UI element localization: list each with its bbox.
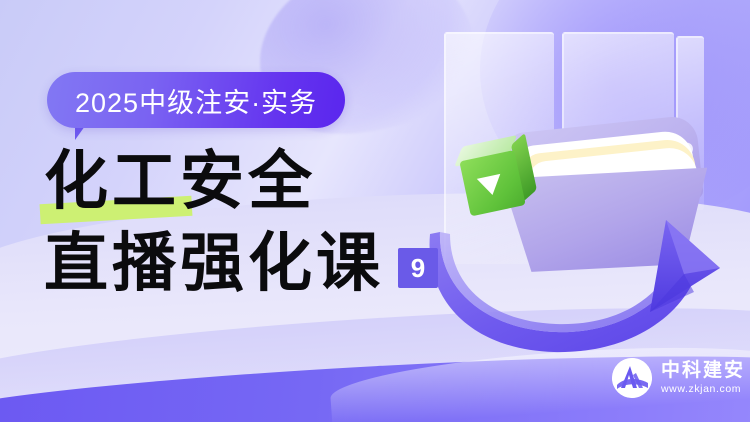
course-promo-banner: 2025中级注安·实务 化工安全 直播强化课 9 中科建安 www.zkjan.… — [0, 0, 750, 422]
course-tag-label: 2025中级注安·实务 — [75, 81, 317, 120]
brand-logo: 中科建安 www.zkjan.com — [612, 358, 745, 398]
tag-pill-tail — [75, 126, 95, 140]
brand-text-block: 中科建安 www.zkjan.com — [661, 361, 745, 395]
illustration-group — [408, 0, 750, 400]
headline-row-two: 直播强化课 9 — [44, 230, 438, 298]
brand-website: www.zkjan.com — [661, 383, 745, 395]
mountain-circle-icon — [612, 358, 652, 398]
headline-line-one: 化工安全 — [44, 148, 316, 216]
episode-number-badge: 9 — [398, 248, 438, 288]
course-tag-pill: 2025中级注安·实务 — [47, 72, 345, 128]
headline-line-two: 直播强化课 — [44, 230, 384, 298]
headline-row-one: 化工安全 — [44, 148, 438, 216]
brand-name: 中科建安 — [661, 361, 745, 381]
curved-refresh-arrow-icon — [428, 200, 728, 360]
headline-block: 化工安全 直播强化课 9 — [44, 148, 438, 298]
